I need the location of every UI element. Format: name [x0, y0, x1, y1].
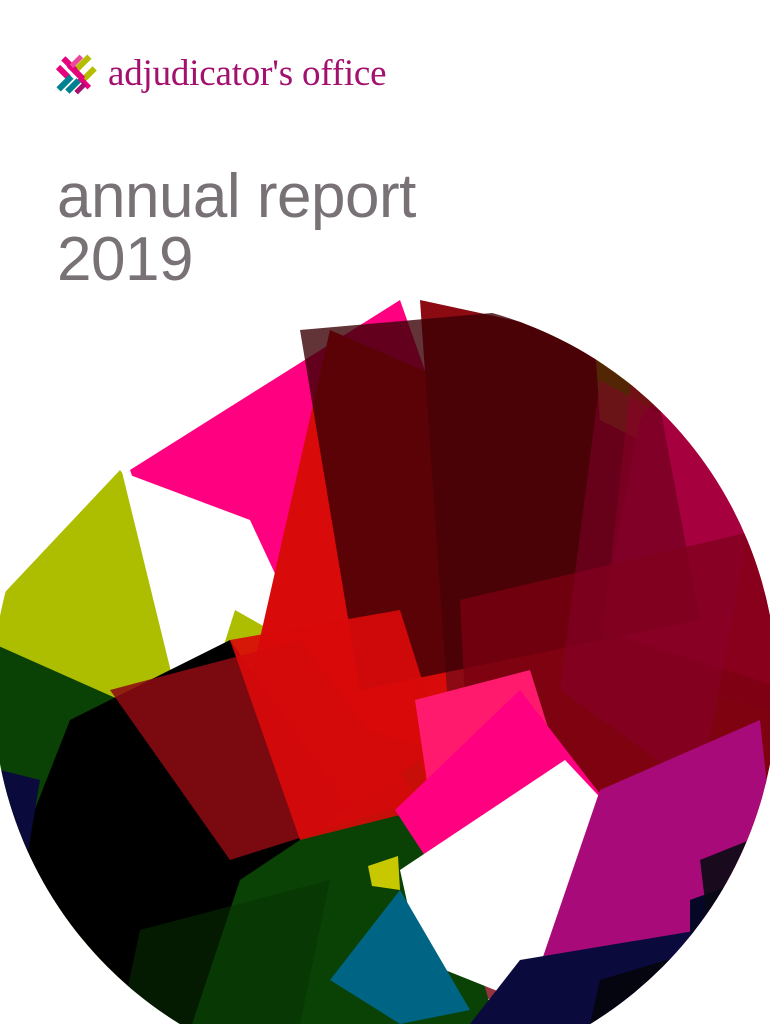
title-line-year: 2019: [57, 228, 416, 291]
report-cover-page: adjudicator's office annual report 2019: [0, 0, 770, 1024]
adjudicators-office-starburst-logo-icon: [56, 52, 102, 98]
page-title: annual report 2019: [57, 165, 416, 291]
cover-artwork: [0, 0, 770, 1024]
organisation-wordmark: adjudicator's office: [108, 55, 386, 95]
masthead: adjudicator's office: [56, 52, 386, 98]
shape-red-corner-left: [0, 960, 60, 1024]
title-line-primary: annual report: [57, 165, 416, 228]
